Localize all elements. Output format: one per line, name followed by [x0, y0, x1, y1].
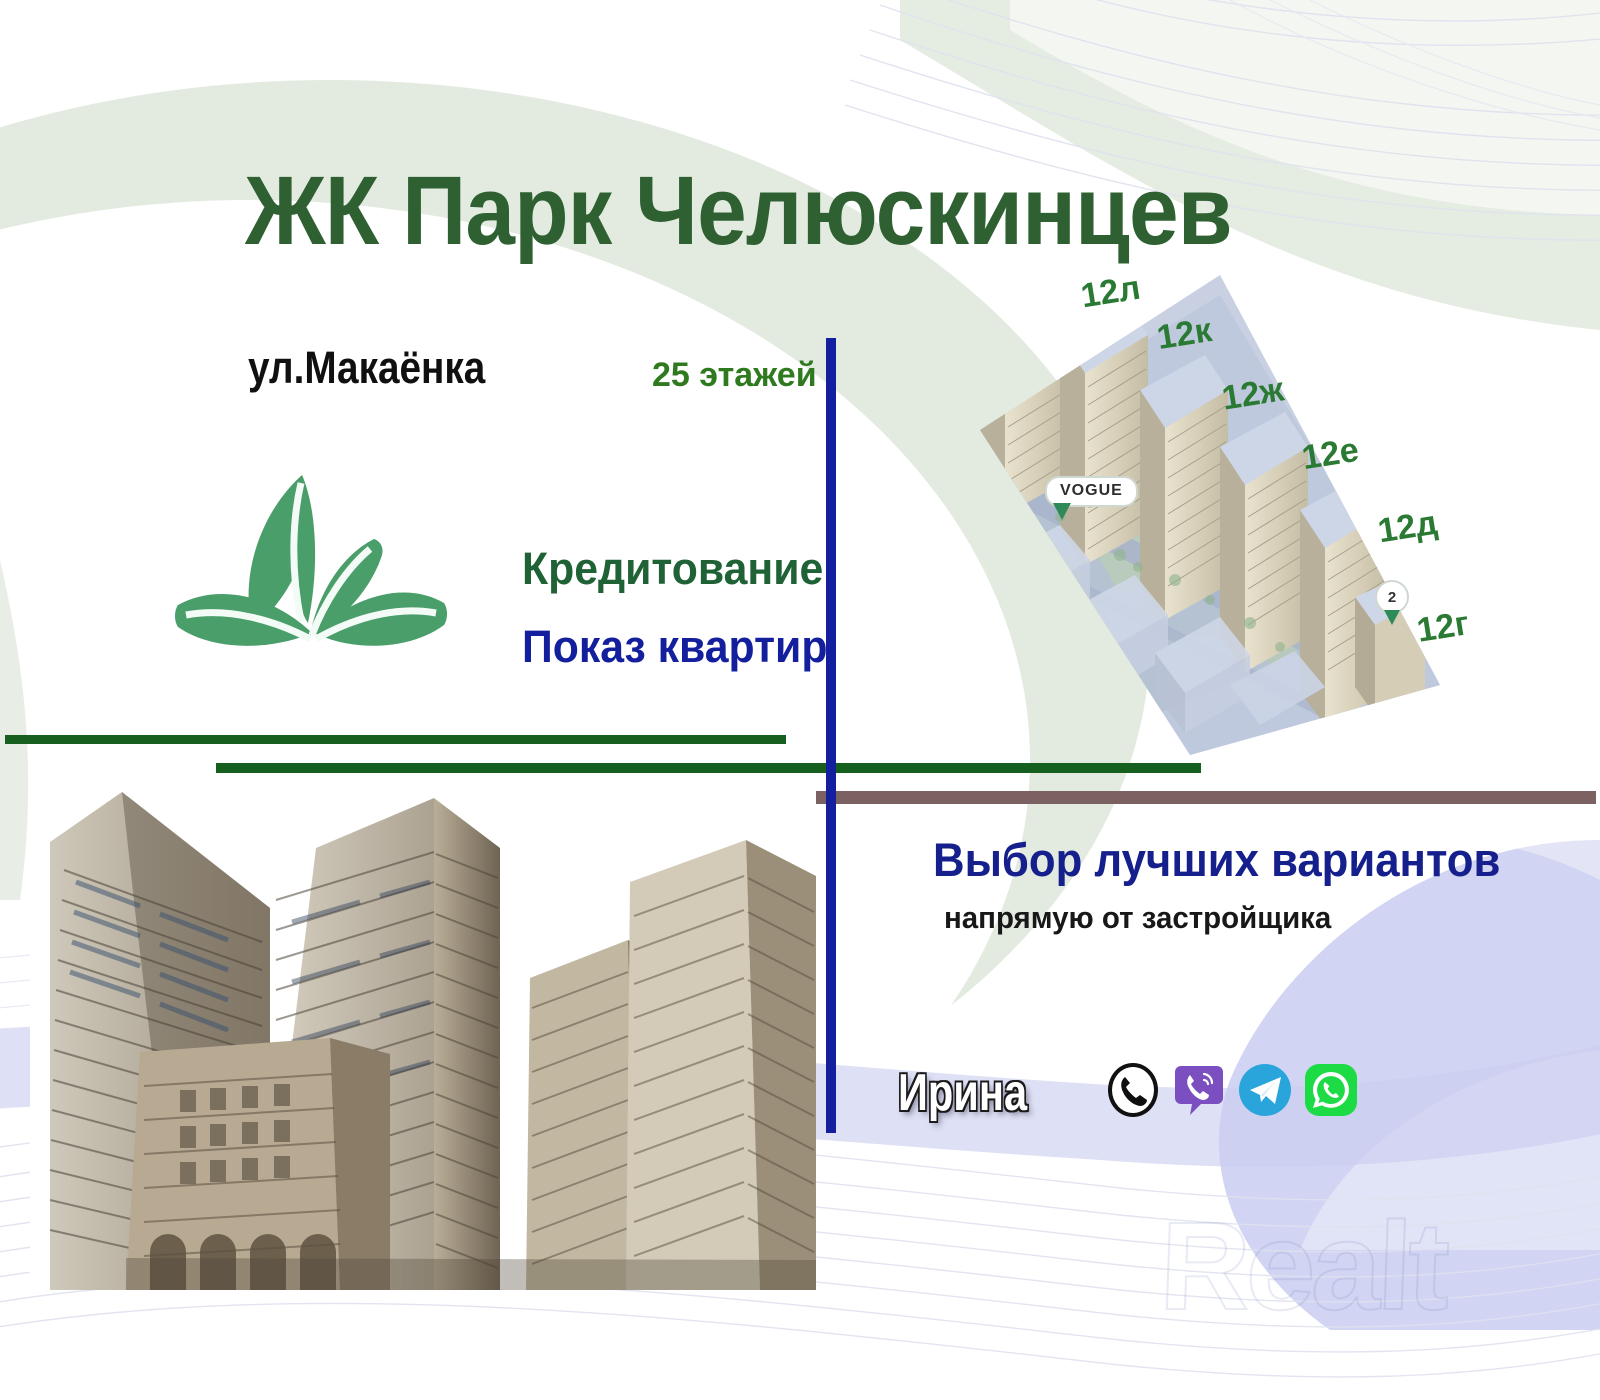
- vogue-marker: VOGUE: [1045, 476, 1138, 507]
- advertisement-poster: ЖК Парк Челюскинцев ул.Макаёнка 25 этаже…: [0, 0, 1600, 1400]
- residential-towers-photo: [30, 790, 816, 1290]
- telegram-icon[interactable]: [1237, 1062, 1293, 1118]
- divider-vertical-navy: [826, 338, 836, 1133]
- contact-icons: [1105, 1062, 1359, 1118]
- building-label-12g: 12г: [1414, 604, 1471, 651]
- page-title: ЖК Парк Челюскинцев: [245, 160, 1232, 262]
- agent-name: Ирина: [898, 1063, 1027, 1123]
- whatsapp-icon[interactable]: [1303, 1062, 1359, 1118]
- divider-green-upper: [5, 735, 786, 744]
- show-flats-offer: Показ квартир: [522, 621, 827, 673]
- street-address: ул.Макаёнка: [248, 342, 485, 394]
- realt-watermark: Realt: [1158, 1195, 1449, 1338]
- marker-2: 2: [1375, 580, 1409, 614]
- viber-icon[interactable]: [1171, 1062, 1227, 1118]
- phone-icon[interactable]: [1105, 1062, 1161, 1118]
- green-leaf-sprout-logo: [160, 455, 460, 700]
- credit-offer: Кредитование: [522, 543, 823, 595]
- floors-count: 25 этажей: [652, 356, 817, 395]
- promo-headline: Выбор лучших вариантов: [933, 832, 1500, 887]
- promo-subline: напрямую от застройщика: [944, 900, 1331, 936]
